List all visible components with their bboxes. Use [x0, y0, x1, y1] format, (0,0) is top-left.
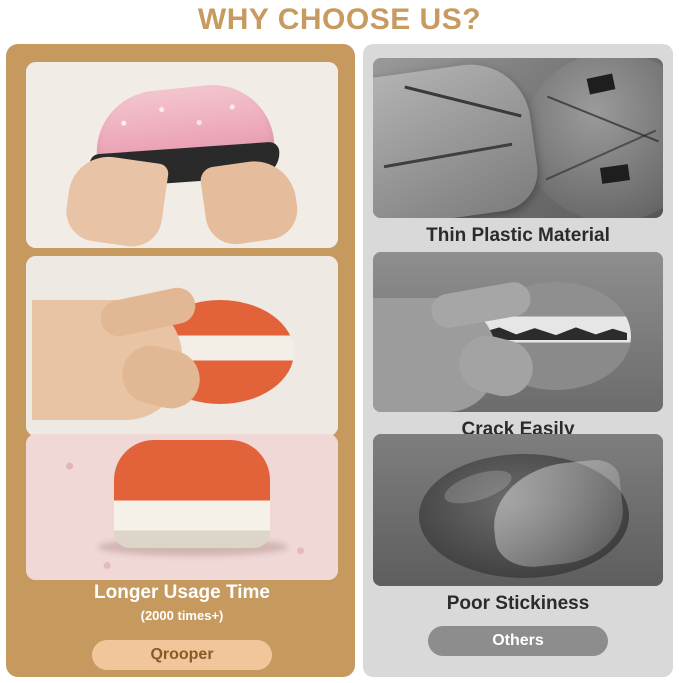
others-caption-1: Thin Plastic Material	[363, 225, 673, 247]
sponge-on-patterned-cloth-photo	[26, 434, 338, 580]
others-column: Thin Plastic Material Crack Easily Poor …	[363, 44, 673, 677]
hand-tearing-sponge-photo	[373, 252, 663, 412]
others-image-card-2	[373, 252, 663, 412]
others-badge: Others	[428, 626, 608, 656]
brand-caption-3-sub: (2000 times+)	[26, 608, 338, 623]
cracked-grey-plastic-photo	[373, 58, 663, 218]
brand-image-card-3	[26, 434, 338, 580]
brand-caption-3: Longer Usage Time	[26, 582, 338, 604]
brand-image-card-2	[26, 256, 338, 436]
brand-name-badge: Qrooper	[92, 640, 272, 670]
others-image-card-3	[373, 434, 663, 586]
peeling-sticky-pad-photo	[373, 434, 663, 586]
comparison-infographic: WHY CHOOSE US? Thicker Material Soft	[0, 0, 679, 683]
hand-holding-pink-pad-photo	[26, 62, 338, 248]
brand-column: Thicker Material Soft & Flexible Longer …	[6, 44, 355, 677]
brand-image-card-1	[26, 62, 338, 248]
others-caption-3: Poor Stickiness	[363, 593, 673, 615]
hand-squeezing-orange-sponge-photo	[26, 256, 338, 436]
page-title: WHY CHOOSE US?	[0, 2, 679, 38]
others-image-card-1	[373, 58, 663, 218]
